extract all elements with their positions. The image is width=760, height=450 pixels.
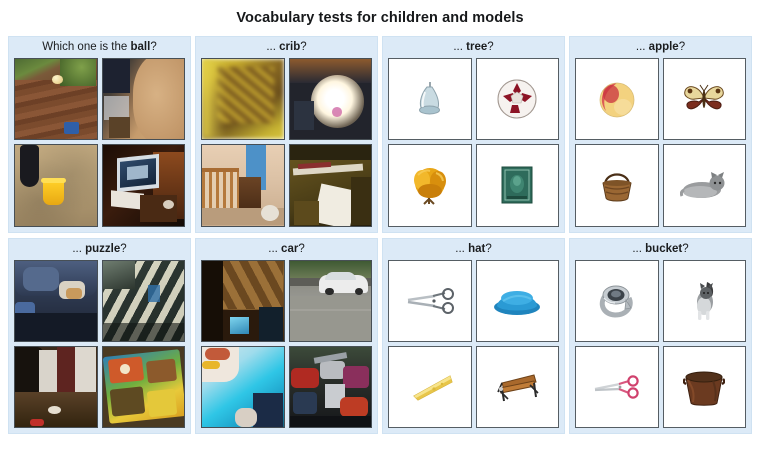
cat-lying-icon	[680, 170, 728, 200]
cheese-wedge-icon	[406, 372, 454, 402]
image-grid-bucket	[570, 258, 751, 434]
photo-sunlit-floor-shadows[interactable]	[102, 260, 186, 342]
panel-label-word: ball	[131, 41, 151, 53]
panel-label-apple: ... apple?	[636, 40, 685, 56]
photo-wooden-crib-in-nursery[interactable]	[201, 144, 285, 226]
panel-label-lead: Which one is the	[42, 41, 127, 53]
panel-label-word: tree	[466, 41, 487, 53]
object-scissors-silver[interactable]	[388, 260, 472, 342]
object-butterfly[interactable]	[663, 58, 747, 140]
panel-crib[interactable]: ... crib?	[195, 36, 378, 233]
photo-indoor-blurred-furniture[interactable]	[102, 58, 186, 140]
panel-label-lead: ...	[455, 243, 465, 255]
panel-label-word: puzzle	[85, 243, 120, 255]
panel-label-suffix: ?	[487, 41, 493, 53]
postage-stamp-icon	[501, 166, 533, 204]
soccer-ball-icon	[496, 78, 538, 120]
image-grid-hat	[383, 258, 564, 434]
panel-label-suffix: ?	[300, 41, 306, 53]
object-autumn-tree[interactable]	[388, 144, 472, 226]
photo-overexposed-bright-light[interactable]	[289, 58, 373, 140]
scissors-silver-icon	[405, 288, 455, 314]
panel-label-lead: ...	[268, 243, 278, 255]
panel-label-lead: ...	[72, 243, 82, 255]
panel-car[interactable]: ... car?	[195, 238, 378, 435]
cat-standing-icon	[687, 280, 721, 322]
photo-dark-room-with-carpet[interactable]	[14, 346, 98, 428]
photo-blurry-yellow-wooden-slats[interactable]	[201, 58, 285, 140]
image-grid-tree	[383, 56, 564, 232]
silver-ring-icon	[595, 284, 639, 318]
panel-label-suffix: ?	[679, 41, 685, 53]
object-park-bench[interactable]	[476, 346, 560, 428]
image-grid-crib	[196, 56, 377, 232]
panel-label-word: car	[281, 243, 298, 255]
panel-label-suffix: ?	[298, 243, 304, 255]
panel-label-hat: ... hat?	[455, 242, 491, 258]
vocabulary-test-figure: Vocabulary tests for children and models…	[0, 0, 760, 450]
panel-label-puzzle: ... puzzle?	[72, 242, 126, 258]
image-grid-ball	[9, 56, 190, 232]
object-silver-ring[interactable]	[575, 260, 659, 342]
image-grid-puzzle	[9, 258, 190, 434]
scissors-pink-icon	[592, 375, 642, 399]
object-cat-lying[interactable]	[663, 144, 747, 226]
glass-vase-icon	[413, 79, 447, 119]
panel-tree[interactable]: ... tree?	[382, 36, 565, 233]
object-wicker-basket[interactable]	[575, 144, 659, 226]
object-cat-standing[interactable]	[663, 260, 747, 342]
photo-cyan-blanket-closeup[interactable]	[201, 346, 285, 428]
photo-laptop-on-lap[interactable]	[102, 144, 186, 226]
image-grid-car	[196, 258, 377, 434]
photo-animal-jigsaw-puzzle[interactable]	[102, 346, 186, 428]
photo-toy-vehicles-pile[interactable]	[289, 346, 373, 428]
page-title: Vocabulary tests for children and models	[0, 0, 760, 28]
photo-wooden-ceiling-beams[interactable]	[201, 260, 285, 342]
object-soccer-ball[interactable]	[476, 58, 560, 140]
photo-yellow-bucket-in-sand[interactable]	[14, 144, 98, 226]
object-postage-stamp[interactable]	[476, 144, 560, 226]
object-brown-bucket[interactable]	[663, 346, 747, 428]
panel-ball[interactable]: Which one is the ball?	[8, 36, 191, 233]
photo-ball-on-wooden-deck[interactable]	[14, 58, 98, 140]
blue-hat-icon	[493, 285, 541, 317]
photo-white-car-on-road[interactable]	[289, 260, 373, 342]
panel-label-crib: ... crib?	[266, 40, 306, 56]
panel-label-tree: ... tree?	[453, 40, 493, 56]
butterfly-icon	[681, 82, 727, 116]
panel-label-lead: ...	[453, 41, 463, 53]
panel-hat[interactable]: ... hat?	[382, 238, 565, 435]
object-blue-hat[interactable]	[476, 260, 560, 342]
object-cheese-wedge[interactable]	[388, 346, 472, 428]
panel-puzzle[interactable]: ... puzzle?	[8, 238, 191, 435]
park-bench-icon	[494, 371, 540, 403]
panel-label-word: apple	[649, 41, 679, 53]
photo-dark-blue-sofa[interactable]	[14, 260, 98, 342]
panel-label-bucket: ... bucket?	[632, 242, 688, 258]
image-grid-apple	[570, 56, 751, 232]
autumn-tree-icon	[408, 163, 452, 207]
object-glass-vase[interactable]	[388, 58, 472, 140]
panel-label-ball: Which one is the ball?	[42, 40, 156, 56]
wicker-basket-icon	[598, 165, 636, 205]
panel-label-car: ... car?	[268, 242, 304, 258]
panel-apple[interactable]: ... apple?	[569, 36, 752, 233]
object-apple[interactable]	[575, 58, 659, 140]
apple-icon	[597, 79, 637, 119]
panel-label-lead: ...	[632, 243, 642, 255]
panel-label-word: crib	[279, 41, 300, 53]
object-scissors-pink[interactable]	[575, 346, 659, 428]
panel-label-word: hat	[468, 243, 485, 255]
panel-label-word: bucket	[645, 243, 682, 255]
panel-label-lead: ...	[266, 41, 276, 53]
panel-bucket[interactable]: ... bucket?	[569, 238, 752, 435]
panel-grid: Which one is the ball?	[8, 36, 752, 434]
brown-bucket-icon	[683, 366, 725, 408]
panel-label-suffix: ?	[150, 41, 156, 53]
photo-shelf-with-white-paper[interactable]	[289, 144, 373, 226]
panel-label-suffix: ?	[485, 243, 491, 255]
panel-label-lead: ...	[636, 41, 646, 53]
panel-label-suffix: ?	[682, 243, 688, 255]
panel-label-suffix: ?	[120, 243, 126, 255]
